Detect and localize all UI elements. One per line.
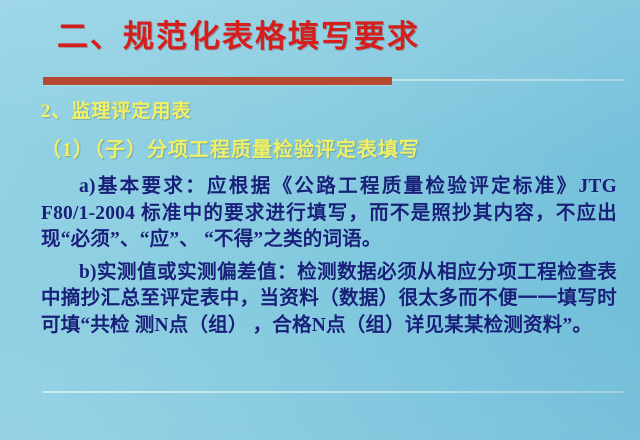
bottom-divider bbox=[43, 391, 625, 393]
slide-canvas: 二、规范化表格填写要求 2、监理评定用表 （1）（子）分项工程质量检验评定表填写… bbox=[0, 0, 640, 440]
section-heading-subitem-form: （1）（子）分项工程质量检验评定表填写 bbox=[41, 137, 420, 164]
page-title: 二、规范化表格填写要求 bbox=[57, 16, 420, 58]
paragraph-b-text: b)实测值或实测偏差值：检测数据必须从相应分项工程检查表中摘抄汇总至评定表中，当… bbox=[41, 262, 617, 336]
section-heading-monitoring-tables: 2、监理评定用表 bbox=[41, 99, 192, 125]
slide-title-block: 二、规范化表格填写要求 bbox=[0, 16, 640, 76]
paragraph-measured-values: b)实测值或实测偏差值：检测数据必须从相应分项工程检查表中摘抄汇总至评定表中，当… bbox=[41, 260, 617, 340]
body-text-block: a)基本要求：应根据《公路工程质量检验评定标准》JTG F80/1-2004 标… bbox=[41, 174, 617, 339]
title-underline-thick bbox=[43, 77, 392, 85]
paragraph-a-text: a)基本要求：应根据《公路工程质量检验评定标准》JTG F80/1-2004 标… bbox=[41, 176, 617, 250]
paragraph-basic-requirements: a)基本要求：应根据《公路工程质量检验评定标准》JTG F80/1-2004 标… bbox=[41, 174, 617, 254]
